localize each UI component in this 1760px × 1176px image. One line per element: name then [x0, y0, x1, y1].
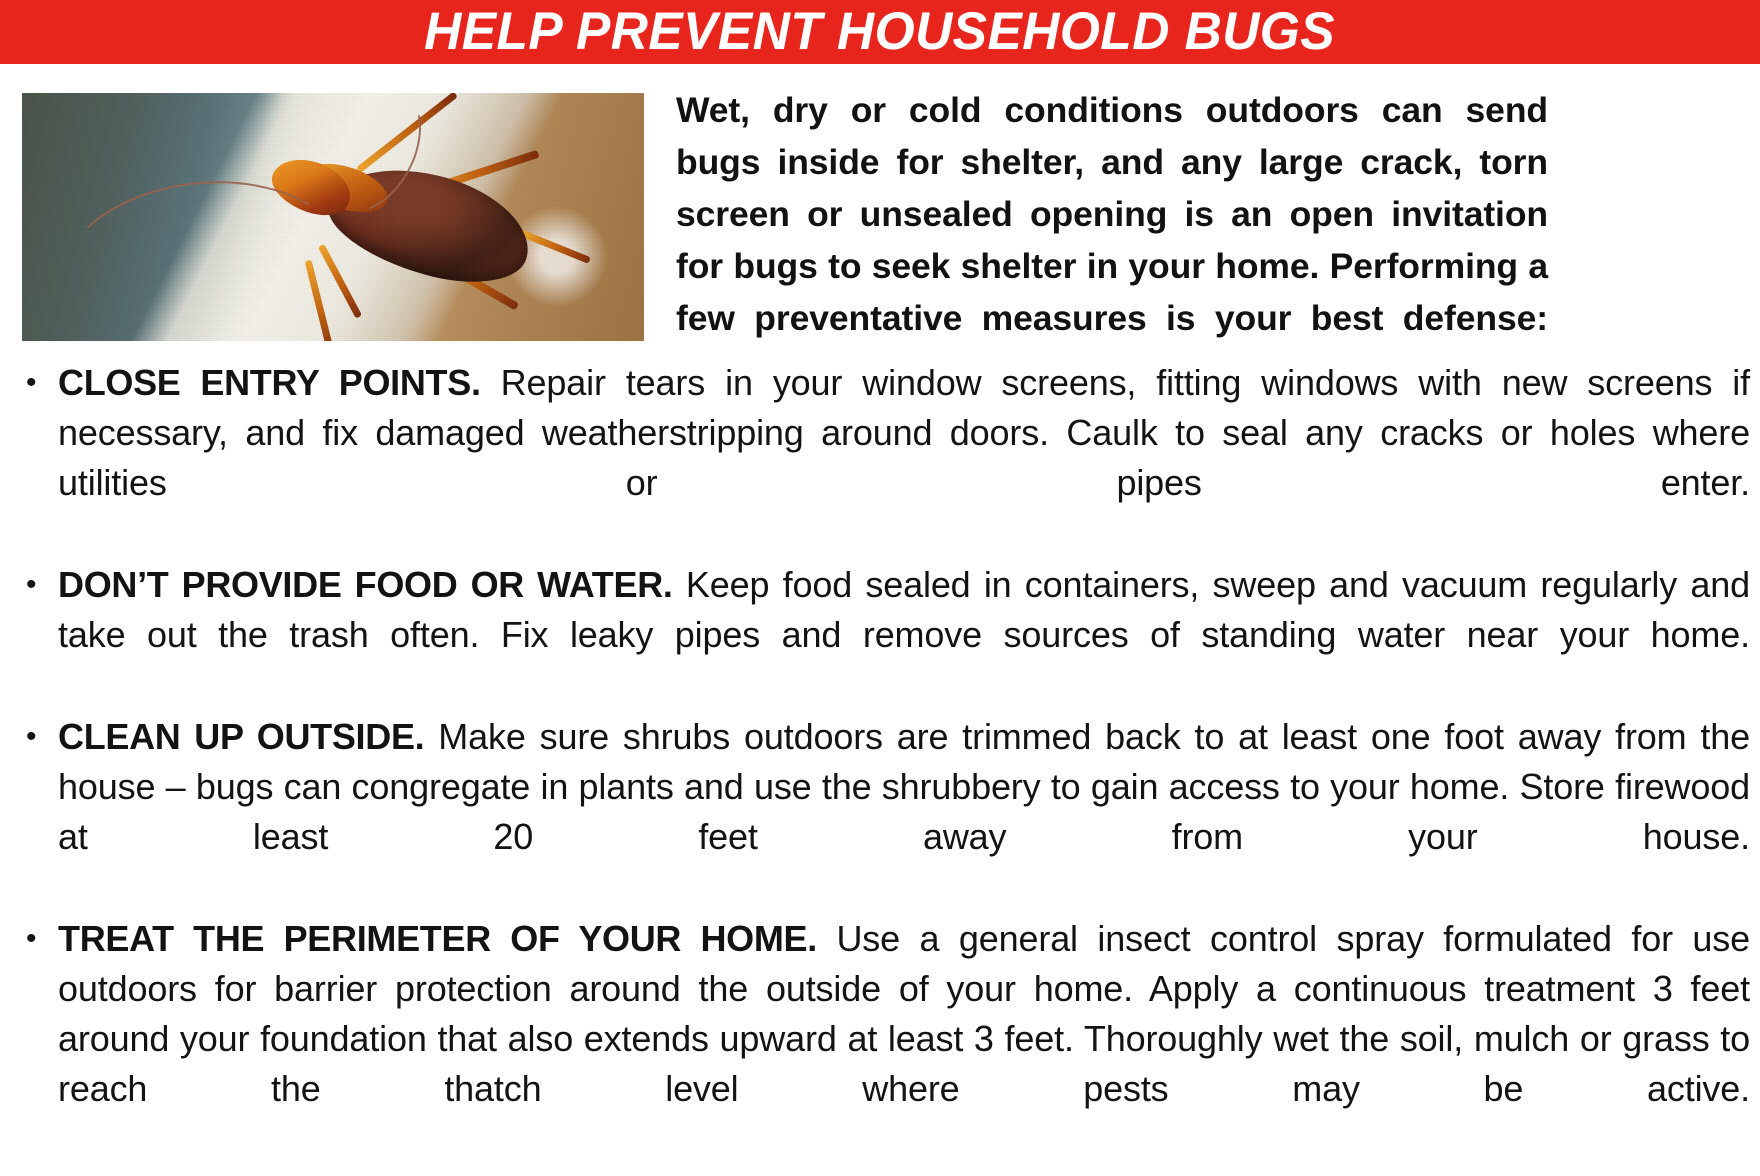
- header-band: HELP PREVENT HOUSEHOLD BUGS: [0, 0, 1760, 64]
- page-title: HELP PREVENT HOUSEHOLD BUGS: [425, 0, 1336, 64]
- list-item-lead: CLOSE ENTRY POINTS.: [58, 362, 481, 403]
- list-item: •CLEAN UP OUTSIDE. Make sure shrubs outd…: [14, 712, 1750, 912]
- list-item: •CLOSE ENTRY POINTS. Repair tears in you…: [14, 358, 1750, 558]
- intro-paragraph: Wet, dry or cold conditions outdoors can…: [676, 84, 1548, 396]
- bullet-marker: •: [26, 560, 36, 610]
- list-item-lead: DON’T PROVIDE FOOD OR WATER.: [58, 564, 673, 605]
- bullet-marker: •: [26, 914, 36, 964]
- list-item: •DON’T PROVIDE FOOD OR WATER. Keep food …: [14, 560, 1750, 710]
- list-item-lead: TREAT THE PERIMETER OF YOUR HOME.: [58, 918, 817, 959]
- bullet-marker: •: [26, 712, 36, 762]
- cockroach-photo: [22, 93, 644, 341]
- list-item: •TREAT THE PERIMETER OF YOUR HOME. Use a…: [14, 914, 1750, 1164]
- tips-list: •CLOSE ENTRY POINTS. Repair tears in you…: [14, 358, 1750, 1166]
- infographic-page: HELP PREVENT HOUSEHOLD BUGS Wet, dry or …: [0, 0, 1760, 1176]
- intro-section: Wet, dry or cold conditions outdoors can…: [0, 64, 1760, 354]
- list-item-lead: CLEAN UP OUTSIDE.: [58, 716, 424, 757]
- bullet-marker: •: [26, 358, 36, 408]
